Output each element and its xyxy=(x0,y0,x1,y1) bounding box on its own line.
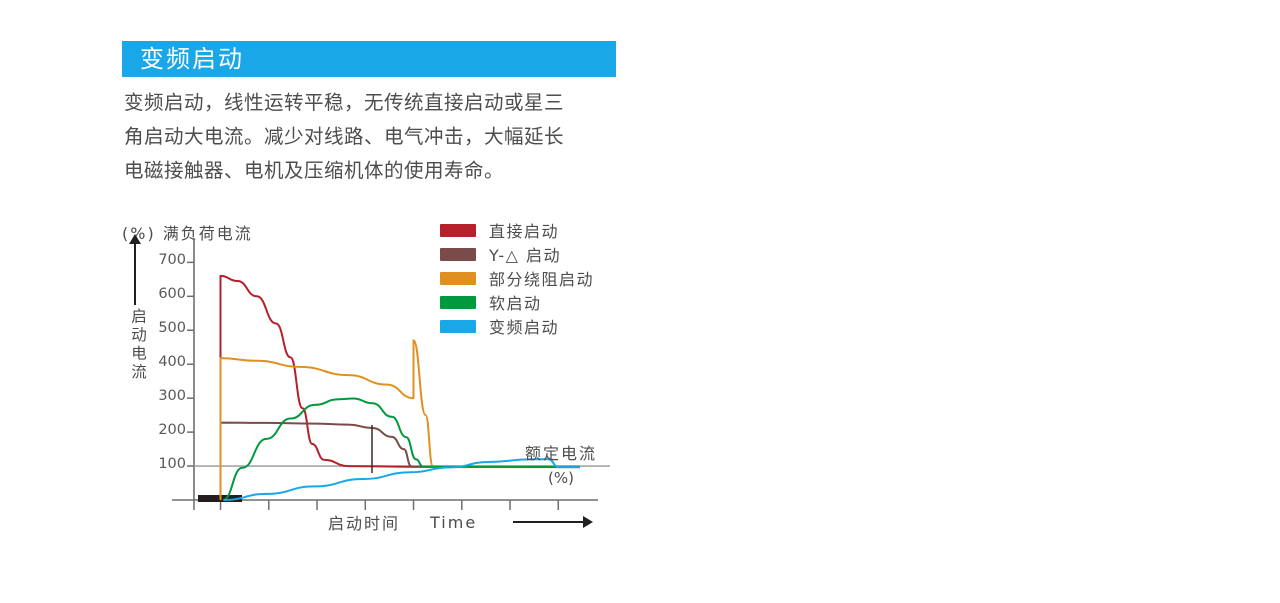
legend-item: Y-△ 启动 xyxy=(440,242,650,266)
starting-current-chart: (%) 满负荷电流 启动电流 700600500400300200100 额定电… xyxy=(110,210,650,560)
chart-left-legend: 直接启动Y-△ 启动部分绕阻启动软启动变频启动 xyxy=(440,218,650,338)
legend-label: 变频启动 xyxy=(489,314,559,338)
x-axis-label-en: Time xyxy=(430,513,477,532)
rated-current-text: 额定电流 xyxy=(525,444,597,463)
legend-label: 部分绕阻启动 xyxy=(489,266,594,290)
y-axis-ticks xyxy=(187,262,194,466)
legend-item: 软启动 xyxy=(440,290,650,314)
legend-item: 变频启动 xyxy=(440,314,650,338)
legend-label: 直接启动 xyxy=(489,218,559,242)
x-axis-ticks xyxy=(194,500,558,510)
rated-current-label: 额定电流 (%) xyxy=(525,442,597,490)
legend-swatch xyxy=(440,296,476,309)
left-panel-header: 变频启动 xyxy=(122,41,616,77)
legend-label: 软启动 xyxy=(489,290,542,314)
legend-swatch xyxy=(440,272,476,285)
left-panel: 变频启动 变频启动，线性运转平稳，无传统直接启动或星三 角启动大电流。减少对线路… xyxy=(0,0,660,603)
legend-swatch xyxy=(440,320,476,333)
legend-label: Y-△ 启动 xyxy=(489,242,561,266)
left-panel-header-title: 变频启动 xyxy=(140,47,244,71)
legend-swatch xyxy=(440,248,476,261)
legend-swatch xyxy=(440,224,476,237)
legend-item: 直接启动 xyxy=(440,218,650,242)
legend-item: 部分绕阻启动 xyxy=(440,266,650,290)
x-axis-arrow-icon xyxy=(513,521,585,523)
left-panel-paragraph: 变频启动，线性运转平稳，无传统直接启动或星三 角启动大电流。减少对线路、电气冲击… xyxy=(124,86,624,188)
right-panel: 恒压供气 变频控制可以即时反应客户使用的风量变化， 供气压力波动稳定在±0.1k… xyxy=(660,0,1280,603)
x-axis-label-cn: 启动时间 xyxy=(328,510,400,534)
rated-current-unit: (%) xyxy=(548,469,574,487)
x-axis-labels: 启动时间 Time xyxy=(328,510,585,534)
